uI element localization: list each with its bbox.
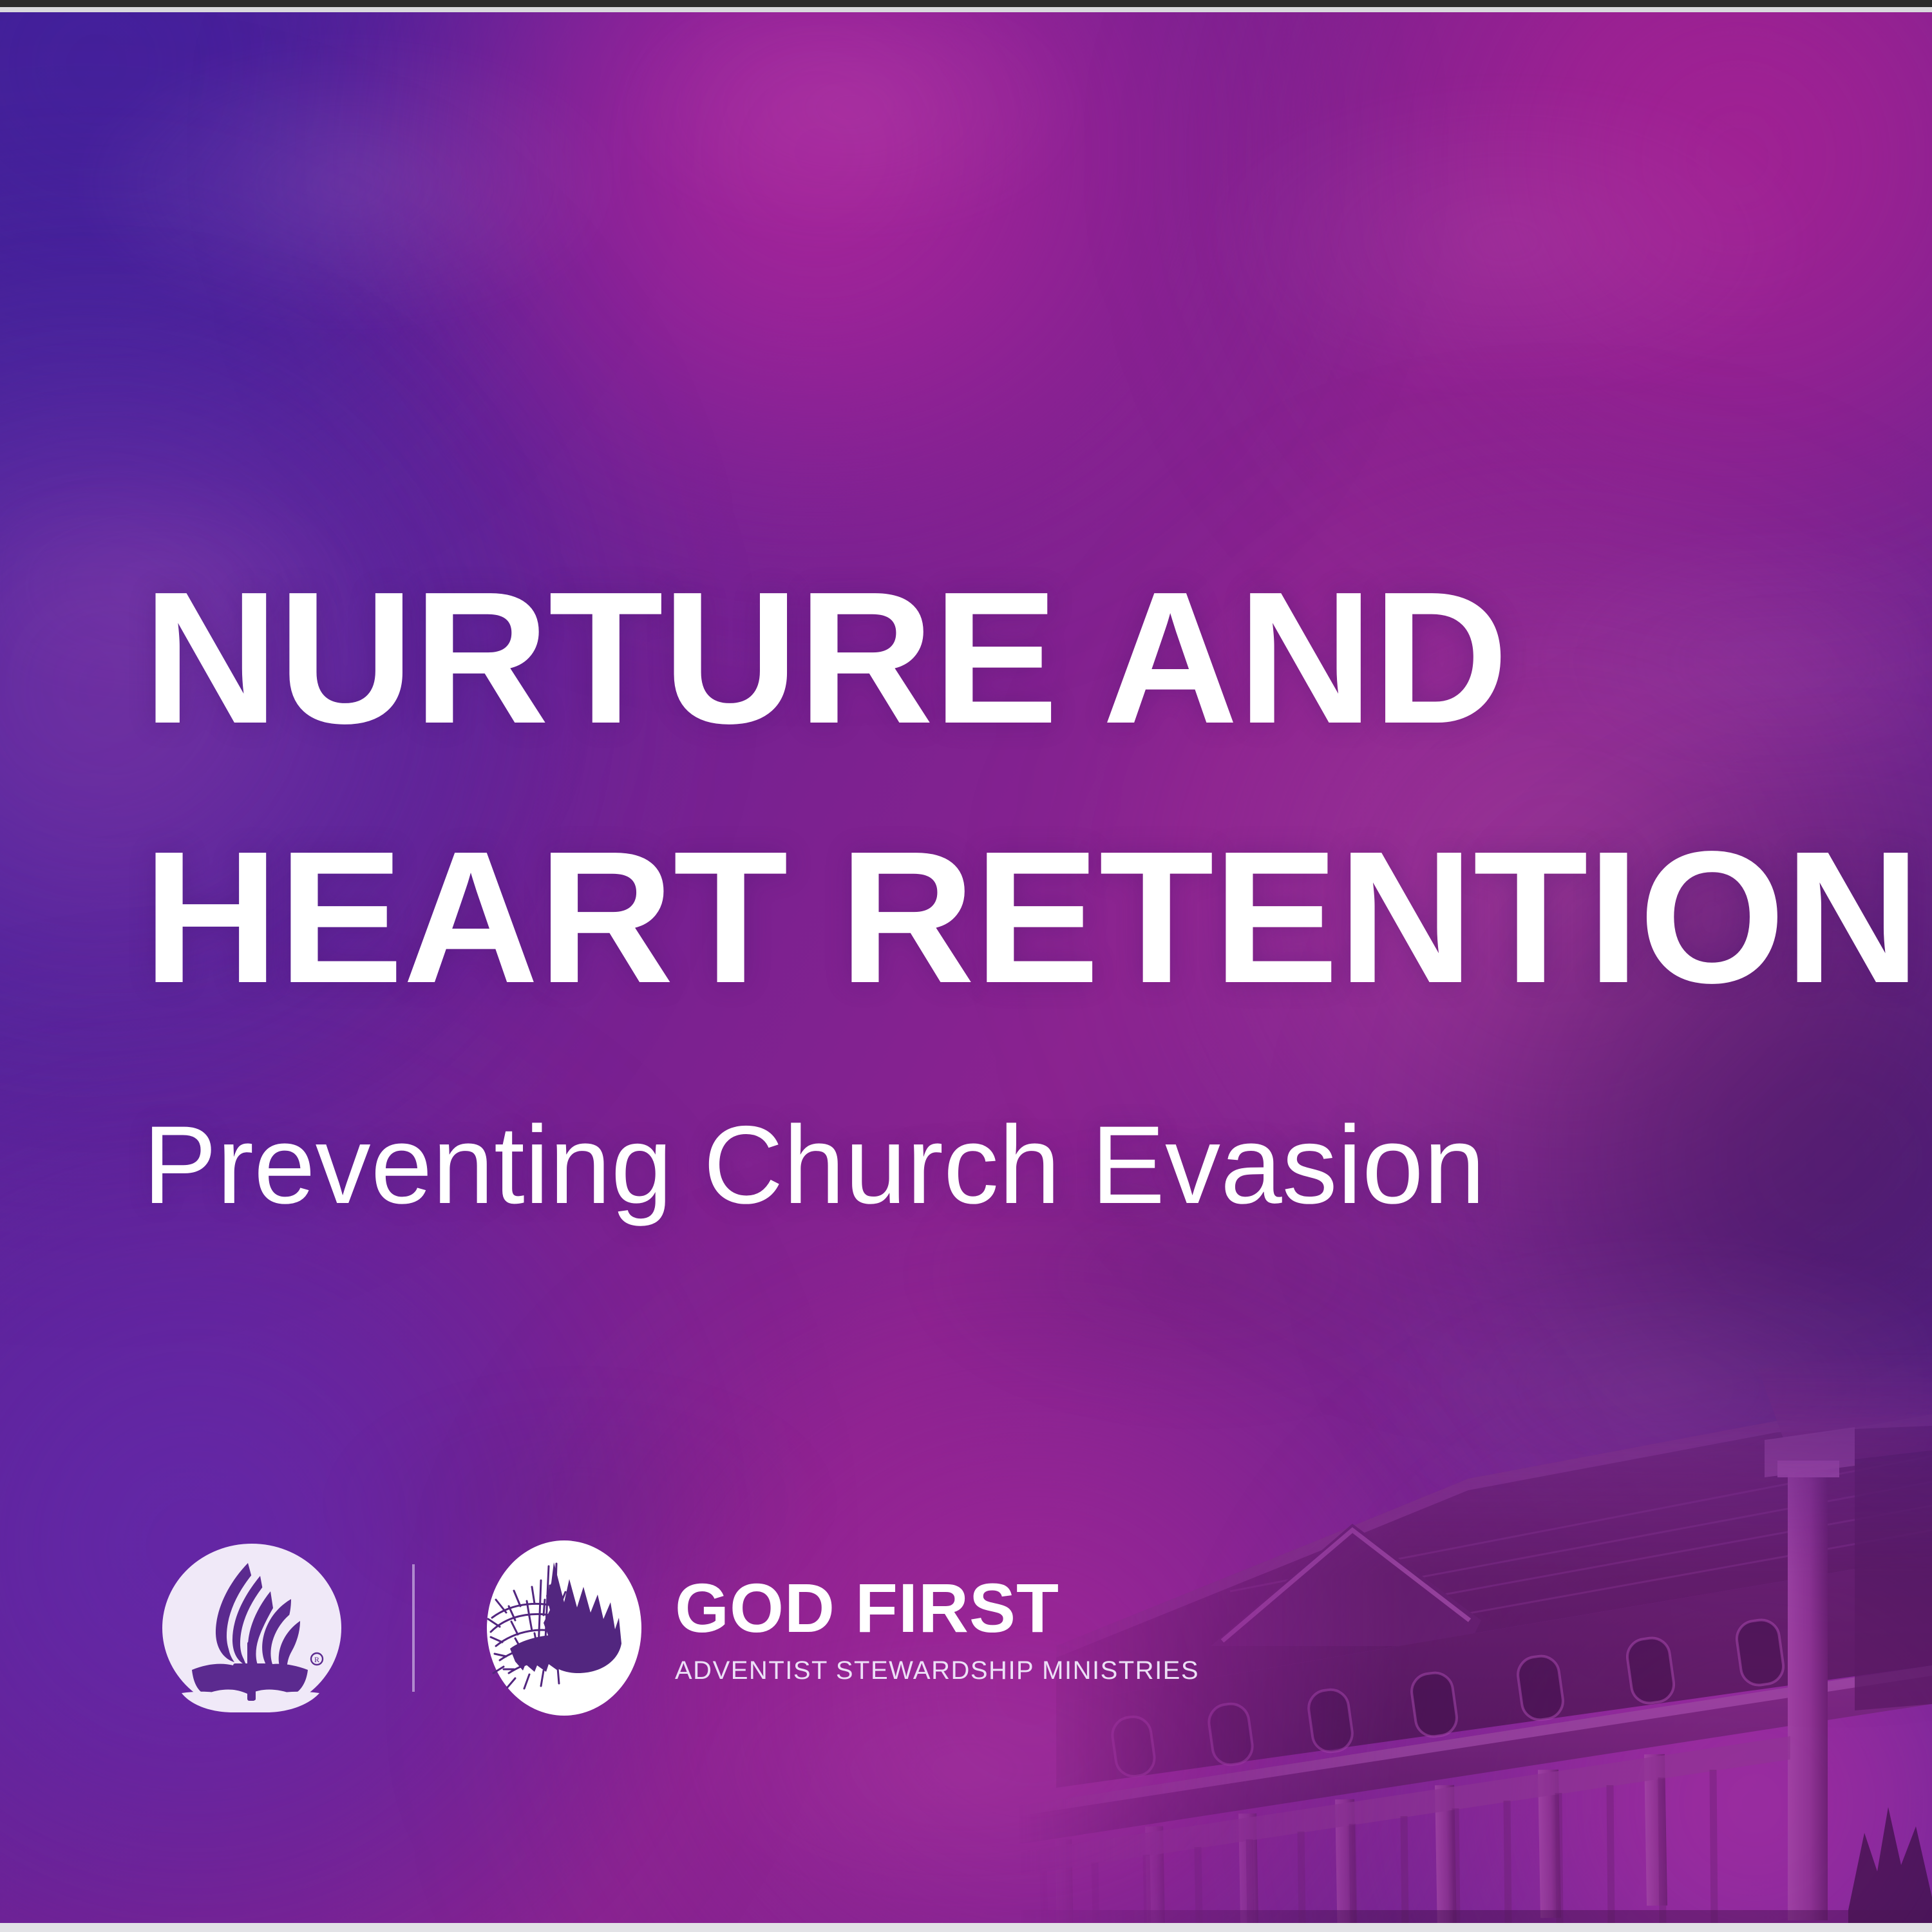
title-block: NURTURE AND HEART RETENTION Preventing C… [143,528,1843,1238]
bottom-light-edge [0,1923,1932,1932]
title-slide: NURTURE AND HEART RETENTION Preventing C… [0,0,1932,1932]
top-light-edge [0,7,1932,12]
title-line-1: NURTURE AND [143,528,1843,788]
god-first-subtitle: ADVENTIST STEWARDSHIP MINISTRIES [675,1658,1199,1683]
logo-lockup: R [162,1540,1199,1716]
svg-text:R: R [314,1655,319,1664]
seventh-day-adventist-logo: R [162,1544,341,1712]
vertical-divider [412,1564,415,1692]
god-first-crown-of-thorns-mark [487,1540,641,1716]
subtitle: Preventing Church Evasion [143,1094,1843,1238]
top-dark-edge [0,0,1932,7]
title-line-2: HEART RETENTION [143,788,1843,1047]
god-first-wordmark: GOD FIRST ADVENTIST STEWARDSHIP MINISTRI… [675,1573,1199,1683]
god-first-title: GOD FIRST [675,1573,1199,1643]
